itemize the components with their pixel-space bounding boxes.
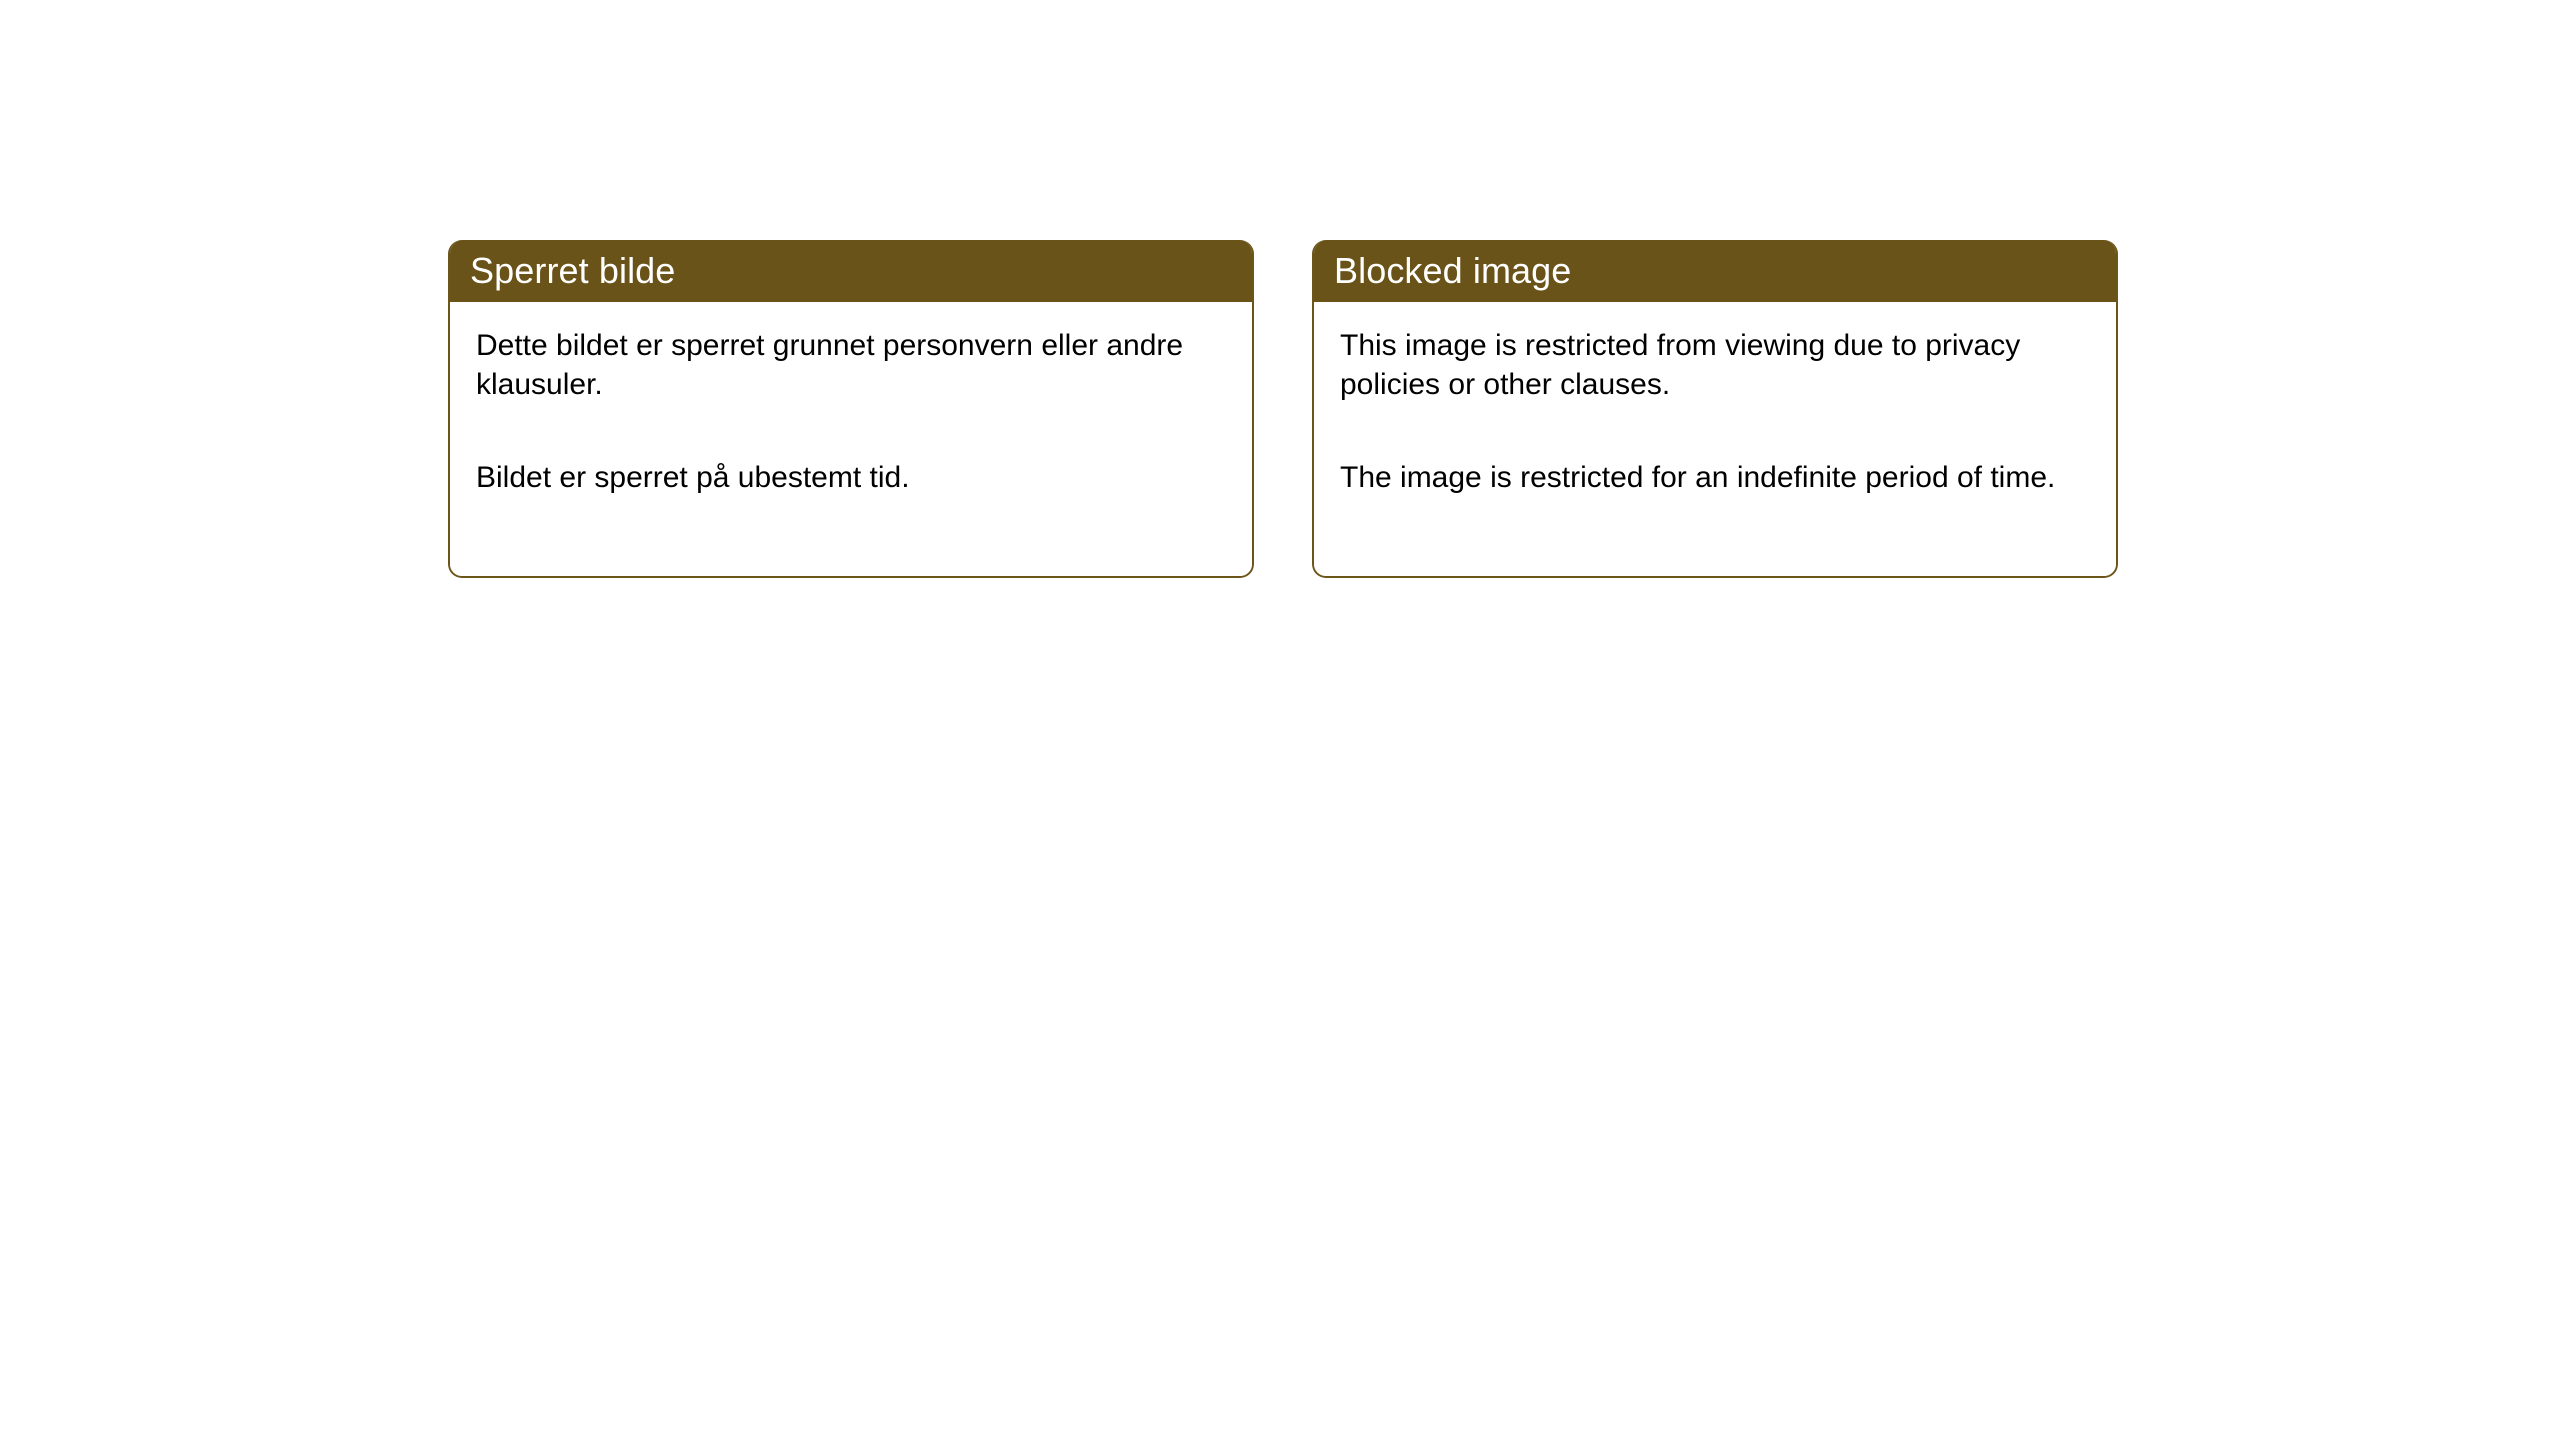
card-paragraph-primary-english: This image is restricted from viewing du… (1340, 326, 2088, 404)
card-paragraph-secondary-english: The image is restricted for an indefinit… (1340, 458, 2088, 497)
card-header-english: Blocked image (1312, 240, 2118, 302)
blocked-image-card-norwegian: Sperret bilde Dette bildet er sperret gr… (448, 240, 1254, 578)
blocked-image-card-english: Blocked image This image is restricted f… (1312, 240, 2118, 578)
card-paragraph-primary-norwegian: Dette bildet er sperret grunnet personve… (476, 326, 1224, 404)
page-root: Sperret bilde Dette bildet er sperret gr… (0, 0, 2560, 1440)
notice-card-row: Sperret bilde Dette bildet er sperret gr… (448, 240, 2118, 578)
card-header-norwegian: Sperret bilde (448, 240, 1254, 302)
card-title-english: Blocked image (1334, 253, 1571, 289)
card-title-norwegian: Sperret bilde (470, 253, 675, 289)
card-body-norwegian: Dette bildet er sperret grunnet personve… (450, 302, 1252, 576)
card-paragraph-secondary-norwegian: Bildet er sperret på ubestemt tid. (476, 458, 1224, 497)
card-body-english: This image is restricted from viewing du… (1314, 302, 2116, 576)
